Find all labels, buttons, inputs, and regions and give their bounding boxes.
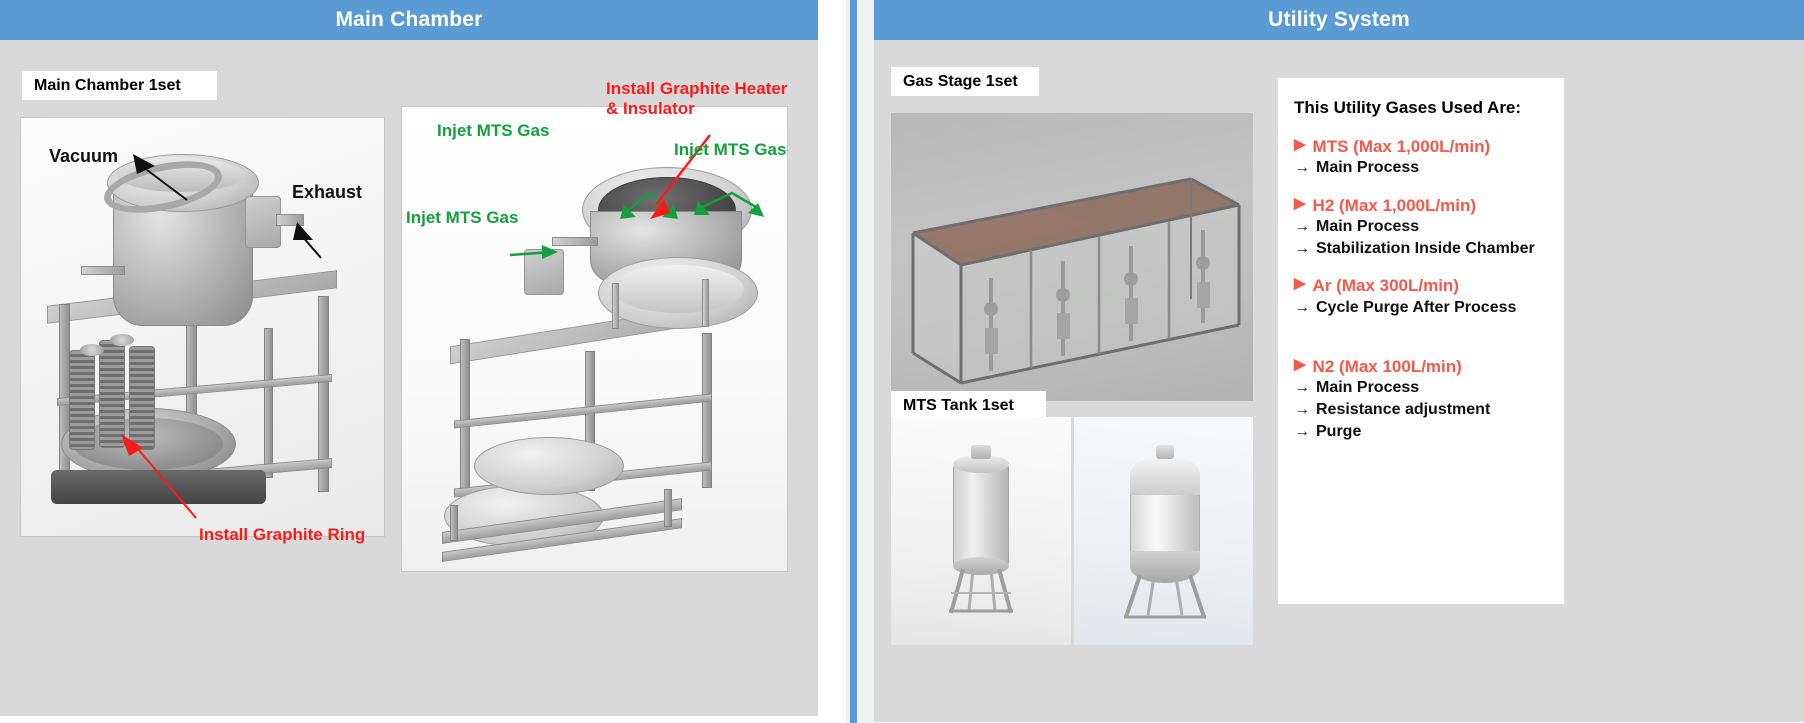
- gas-name-n2: ▶ N2 (Max 100L/min): [1294, 356, 1548, 377]
- bullet-triangle-icon: ▶: [1294, 195, 1306, 214]
- heater-insulator-label: Install Graphite Heater & Insulator: [606, 79, 787, 119]
- exhaust-pipe: [276, 214, 304, 226]
- main-chamber-title: Main Chamber: [335, 8, 482, 32]
- graphite-column-1: [69, 350, 95, 450]
- cart-leg-1: [450, 505, 458, 541]
- gas-use-n2-1: → Resistance adjustment: [1294, 399, 1548, 421]
- gas-cabinet-drawing: [891, 113, 1253, 401]
- mts-tank-render-right: [1074, 417, 1253, 645]
- open-side-port-left: [552, 237, 598, 246]
- main-chamber-render: Vacuum Exhaust: [20, 117, 385, 537]
- gas-group-h2: ▶ H2 (Max 1,000L/min) → Main Process → S…: [1294, 195, 1548, 259]
- arrow-right-icon: →: [1294, 297, 1310, 319]
- arrow-right-icon: →: [1294, 421, 1310, 443]
- exhaust-label: Exhaust: [292, 182, 362, 203]
- inject-label-top-left: Injet MTS Gas: [437, 121, 549, 141]
- frame-leg-4: [264, 328, 273, 478]
- tank-left-shell: [953, 463, 1009, 567]
- bullet-triangle-icon: ▶: [1294, 275, 1306, 294]
- graphite-column-cap-1: [80, 344, 104, 356]
- utility-system-body: Gas Stage 1set: [874, 40, 1804, 722]
- gas-name-h2: ▶ H2 (Max 1,000L/min): [1294, 195, 1548, 216]
- chamber-rod-1: [612, 283, 619, 329]
- arrow-right-icon: →: [1294, 157, 1310, 179]
- mts-tank-caption-tag: MTS Tank 1set: [891, 391, 1046, 420]
- main-chamber-caption-tag: Main Chamber 1set: [22, 71, 217, 100]
- cart-leg-2: [664, 489, 672, 527]
- bullet-triangle-icon: ▶: [1294, 136, 1306, 155]
- gas-group-ar: ▶ Ar (Max 300L/min) → Cycle Purge After …: [1294, 275, 1548, 318]
- tank-right-nozzle: [1156, 445, 1174, 459]
- graphite-column-cap-2: [110, 334, 134, 346]
- open-frame-leg-1: [460, 339, 470, 489]
- vacuum-label: Vacuum: [49, 146, 118, 167]
- detached-lid-dome: [612, 265, 744, 313]
- gas-group-n2: ▶ N2 (Max 100L/min) → Main Process → Res…: [1294, 356, 1548, 442]
- panel-gap: [818, 0, 846, 723]
- tank-left-nozzle: [971, 445, 991, 459]
- utility-system-title: Utility System: [1268, 8, 1410, 32]
- graphite-column-2: [99, 340, 125, 448]
- arrow-right-icon: →: [1294, 238, 1310, 260]
- graphite-column-3: [129, 346, 155, 450]
- mts-tank-render-left: [891, 417, 1071, 645]
- gas-use-n2-2: → Purge: [1294, 421, 1548, 443]
- utility-card-title: This Utility Gases Used Are:: [1294, 98, 1548, 118]
- gas-group-mts: ▶ MTS (Max 1,000L/min) → Main Process: [1294, 136, 1548, 179]
- tank-right-top-dome: [1130, 455, 1200, 495]
- main-chamber-panel: Main Chamber Main Chamber 1set: [0, 0, 818, 716]
- vacuum-pipe: [81, 266, 125, 275]
- divider-track-right: [860, 0, 874, 723]
- open-frame-rail-mid: [454, 393, 712, 428]
- gas-name-mts: ▶ MTS (Max 1,000L/min): [1294, 136, 1548, 157]
- divider-accent-bar: [850, 0, 857, 723]
- utility-system-header: Utility System: [874, 0, 1804, 40]
- open-side-box: [524, 249, 564, 295]
- utility-gases-card: This Utility Gases Used Are: ▶ MTS (Max …: [1277, 77, 1565, 605]
- bullet-triangle-icon: ▶: [1294, 356, 1306, 375]
- tank-right-bottom-dome: [1130, 551, 1200, 583]
- arrow-right-icon: →: [1294, 377, 1310, 399]
- cart-lid-2: [474, 437, 624, 495]
- arrow-right-icon: →: [1294, 399, 1310, 421]
- inject-label-left: Injet MTS Gas: [406, 208, 518, 228]
- main-chamber-body: Main Chamber 1set: [0, 40, 818, 716]
- base-platform: [51, 470, 266, 504]
- gas-use-n2-0: → Main Process: [1294, 377, 1548, 399]
- gas-name-ar: ▶ Ar (Max 300L/min): [1294, 275, 1548, 296]
- gas-use-ar-0: → Cycle Purge After Process: [1294, 297, 1548, 319]
- graphite-ring-label: Install Graphite Ring: [199, 525, 365, 545]
- chamber-open-render: [401, 106, 788, 572]
- chamber-rod-2: [702, 279, 709, 327]
- utility-system-panel: Utility System Gas Stage 1set: [874, 0, 1804, 722]
- gas-use-h2-0: → Main Process: [1294, 216, 1548, 238]
- gas-use-h2-1: → Stabilization Inside Chamber: [1294, 238, 1548, 260]
- gas-stage-render: [891, 113, 1253, 401]
- tank-left-bottom-dome: [953, 557, 1009, 575]
- slide-root: Main Chamber Main Chamber 1set: [0, 0, 1804, 723]
- arrow-right-icon: →: [1294, 216, 1310, 238]
- gas-use-mts-0: → Main Process: [1294, 157, 1548, 179]
- main-chamber-header: Main Chamber: [0, 0, 818, 40]
- inject-label-top-right: Injet MTS Gas: [674, 140, 786, 160]
- gas-stage-caption-tag: Gas Stage 1set: [891, 67, 1039, 96]
